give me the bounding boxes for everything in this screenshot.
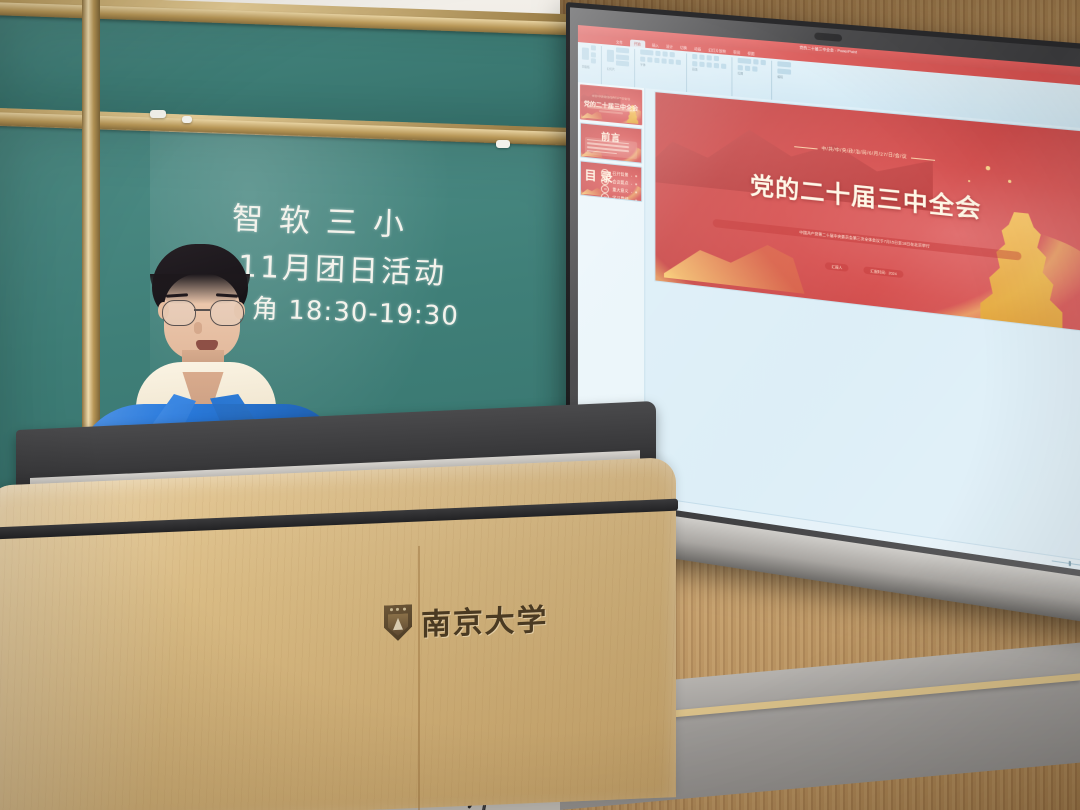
lecture-hall-photo: 智 软 三 小 11月团日活动 角 18:30-19:30 党的二十届三中全会 …	[0, 0, 1080, 810]
paste-button[interactable]	[582, 47, 589, 60]
toc-number: 04	[601, 193, 609, 202]
toc-bullet	[636, 184, 638, 186]
shadow-icon[interactable]	[662, 58, 667, 64]
crest-dot	[403, 608, 406, 611]
tab-insert[interactable]: 插入	[652, 42, 659, 48]
ribbon-group-editing[interactable]: 编辑	[777, 61, 796, 104]
layout-button[interactable]	[616, 47, 629, 53]
cut-button[interactable]	[591, 45, 596, 50]
slide-editing-area[interactable]: 中/共/中/央/政/治/局/6/月/27/日/会/议 党的二十届三中全会 中国共…	[645, 88, 1080, 562]
ribbon-group-font[interactable]: 字体	[640, 49, 687, 94]
find-button[interactable]	[777, 61, 791, 67]
underline-icon[interactable]	[654, 57, 659, 63]
indent-increase-icon[interactable]	[714, 56, 719, 62]
toc-bullet	[636, 192, 638, 194]
eyebrow-dash-right	[911, 157, 935, 160]
quick-styles-icon[interactable]	[761, 60, 766, 66]
columns-icon[interactable]	[721, 63, 726, 69]
shape-outline-icon[interactable]	[745, 65, 750, 71]
lens-left	[162, 300, 196, 326]
font-color-icon[interactable]	[676, 59, 681, 65]
ribbon-group-slides[interactable]: 幻灯片	[607, 47, 635, 90]
ribbon-group-label: 编辑	[777, 75, 791, 80]
decrease-font-icon[interactable]	[670, 52, 675, 58]
tab-home[interactable]: 开始	[630, 39, 645, 47]
align-center-icon[interactable]	[699, 61, 704, 67]
font-family-select[interactable]	[640, 49, 653, 55]
reset-button[interactable]	[616, 54, 629, 60]
slide-thumbnail-3[interactable]: 目 录 01 召开背景 02 会议要点	[580, 160, 642, 202]
increase-font-icon[interactable]	[663, 51, 668, 57]
lectern-panel-seam	[418, 546, 420, 810]
toc-label: 学习贯彻	[612, 195, 628, 202]
tab-slideshow[interactable]: 幻灯片放映	[708, 47, 726, 54]
chalkboard-line-1: 智 软 三 小	[231, 193, 408, 244]
ribbon-group-paragraph[interactable]: 段落	[692, 54, 732, 98]
current-slide[interactable]: 中/共/中/央/政/治/局/6/月/27/日/会/议 党的二十届三中全会 中国共…	[655, 91, 1080, 332]
chalk-piece	[496, 140, 510, 148]
toc-leader	[631, 200, 632, 201]
chalk-piece	[182, 116, 192, 123]
justify-icon[interactable]	[714, 62, 719, 68]
bold-icon[interactable]	[640, 56, 645, 61]
crest-top-dots	[388, 607, 408, 611]
new-slide-button[interactable]	[607, 50, 614, 63]
lens-right	[210, 300, 244, 326]
indent-decrease-icon[interactable]	[707, 55, 712, 61]
crest-dot	[390, 608, 393, 611]
sparkle	[968, 180, 970, 182]
ribbon-group-label: 剪贴板	[582, 64, 596, 69]
slide-thumbnail-1[interactable]: 中/共/中/央/政/治/局/6/月/27/日/会/议 党的二十届三中全会	[580, 84, 642, 125]
tab-animations[interactable]: 动画	[694, 45, 701, 51]
toc-leader	[631, 192, 632, 193]
ribbon-group-drawing[interactable]: 绘图	[738, 58, 772, 102]
italic-icon[interactable]	[647, 57, 652, 63]
glasses-bridge	[194, 309, 210, 311]
crest-dot	[396, 608, 399, 611]
shape-fill-icon[interactable]	[738, 64, 743, 70]
zoom-slider-handle[interactable]	[1069, 561, 1072, 566]
nanjing-university-crest-icon	[384, 604, 412, 641]
shapes-gallery[interactable]	[738, 58, 752, 64]
tab-view[interactable]: 视图	[747, 50, 754, 56]
font-size-select[interactable]	[655, 51, 660, 57]
thumb-3-toc-list: 01 召开背景 02 会议要点	[601, 169, 637, 197]
nose	[194, 322, 202, 334]
arrange-icon[interactable]	[753, 59, 758, 65]
align-right-icon[interactable]	[707, 62, 712, 68]
glasses-icon	[160, 300, 246, 324]
lectern-branding: 南京大学	[384, 595, 548, 646]
zoom-slider[interactable]	[1052, 560, 1080, 566]
shape-effects-icon[interactable]	[752, 66, 757, 72]
bullets-icon[interactable]	[692, 54, 697, 60]
tab-review[interactable]: 审阅	[733, 49, 740, 55]
align-left-icon[interactable]	[692, 60, 697, 66]
toc-bullet	[636, 175, 638, 177]
slide-thumbnail-2[interactable]: 前言	[580, 122, 642, 163]
section-button[interactable]	[616, 60, 629, 66]
tab-file[interactable]: 文件	[616, 39, 623, 45]
ribbon-group-clipboard[interactable]: 剪贴板	[582, 44, 602, 86]
copy-button[interactable]	[591, 52, 596, 57]
tab-transitions[interactable]: 切换	[680, 44, 687, 50]
ribbon-group-label: 幻灯片	[607, 66, 629, 72]
tab-design[interactable]: 设计	[666, 43, 673, 49]
sparkle	[1008, 180, 1011, 184]
replace-button[interactable]	[777, 68, 791, 74]
numbering-icon[interactable]	[699, 54, 704, 60]
crest-mountain-glyph	[393, 618, 403, 630]
text-line	[586, 150, 616, 155]
toc-bullet	[636, 200, 638, 202]
chalk-piece	[150, 110, 166, 118]
toc-leader	[631, 184, 632, 185]
eyebrow-dash-left	[794, 146, 817, 149]
format-painter-button[interactable]	[591, 58, 596, 63]
strikethrough-icon[interactable]	[669, 58, 674, 64]
ribbon-group-label: 绘图	[738, 71, 766, 78]
university-name: 南京大学	[421, 595, 548, 644]
lectern: 南京大学	[0, 430, 686, 810]
toc-leader	[631, 176, 632, 177]
